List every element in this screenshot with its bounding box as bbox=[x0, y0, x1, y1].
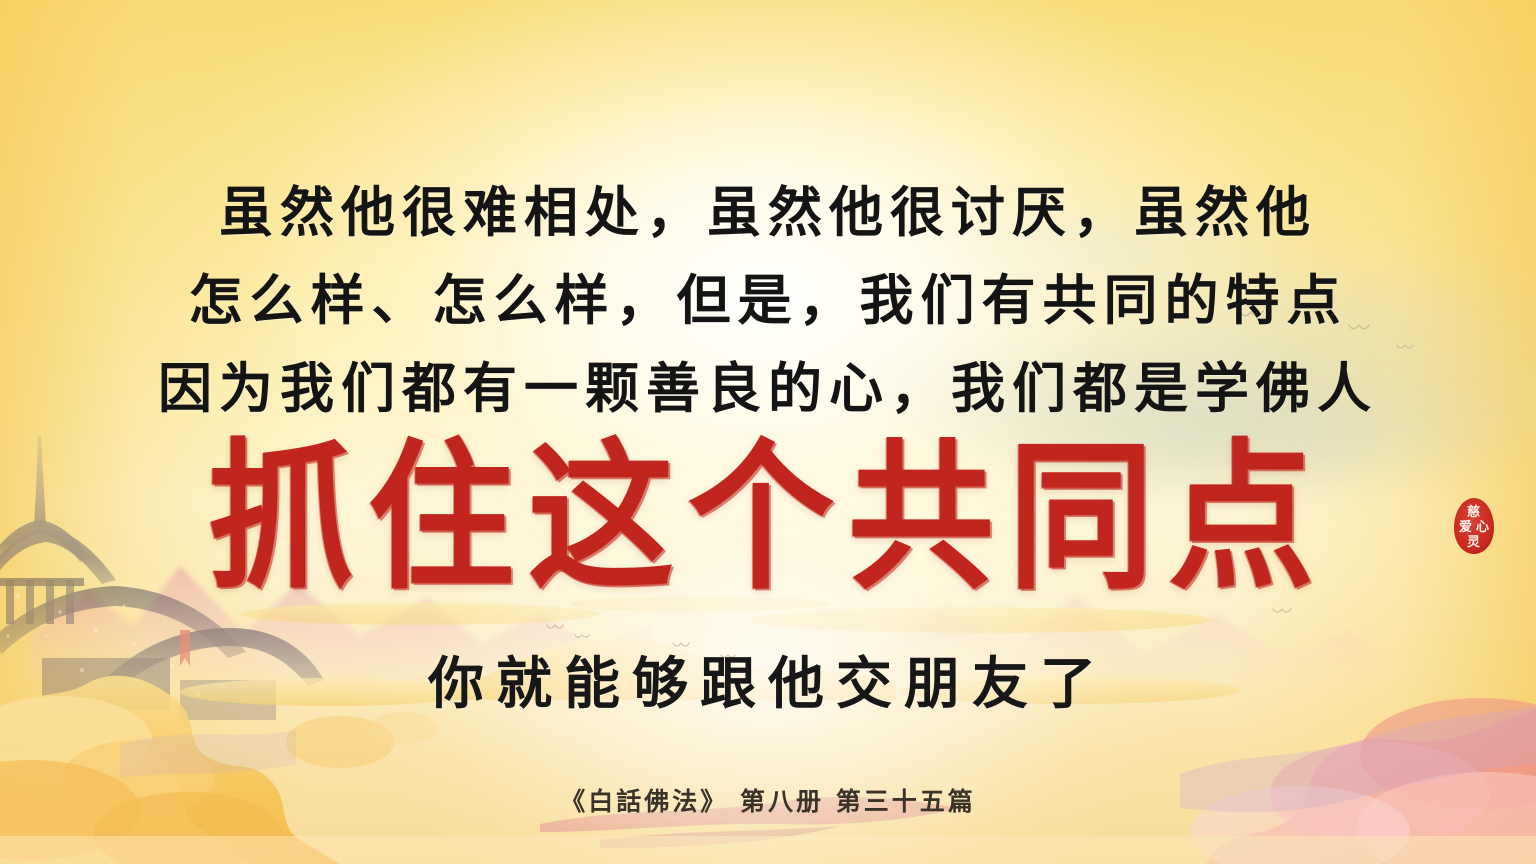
body-text-block: 虽然他很难相处，虽然他很讨厌，虽然他 怎么样、怎么样，但是，我们有共同的特点 因… bbox=[0, 168, 1536, 432]
poster-canvas: 虽然他很难相处，虽然他很讨厌，虽然他 怎么样、怎么样，但是，我们有共同的特点 因… bbox=[0, 0, 1536, 864]
seal-char-left: 爱 bbox=[1458, 521, 1473, 534]
seal-char-top: 慈 bbox=[1466, 506, 1481, 519]
body-line-3: 因为我们都有一颗善良的心，我们都是学佛人 bbox=[0, 344, 1536, 432]
seal-stamp: 慈 爱 心 灵 bbox=[1452, 497, 1496, 555]
poster-content: 虽然他很难相处，虽然他很讨厌，虽然他 怎么样、怎么样，但是，我们有共同的特点 因… bbox=[0, 0, 1536, 864]
seal-characters: 慈 爱 心 灵 bbox=[1452, 497, 1496, 555]
body-line-1: 虽然他很难相处，虽然他很讨厌，虽然他 bbox=[0, 168, 1536, 256]
seal-char-right: 心 bbox=[1475, 521, 1490, 534]
subtitle-text: 你就能够跟他交朋友了 bbox=[0, 639, 1536, 720]
body-line-2: 怎么样、怎么样，但是，我们有共同的特点 bbox=[0, 256, 1536, 344]
headline-title: 抓住这个共同点 bbox=[0, 430, 1536, 606]
source-citation: 《白話佛法》 第八册 第三十五篇 bbox=[0, 782, 1536, 818]
seal-char-bottom: 灵 bbox=[1466, 536, 1481, 549]
